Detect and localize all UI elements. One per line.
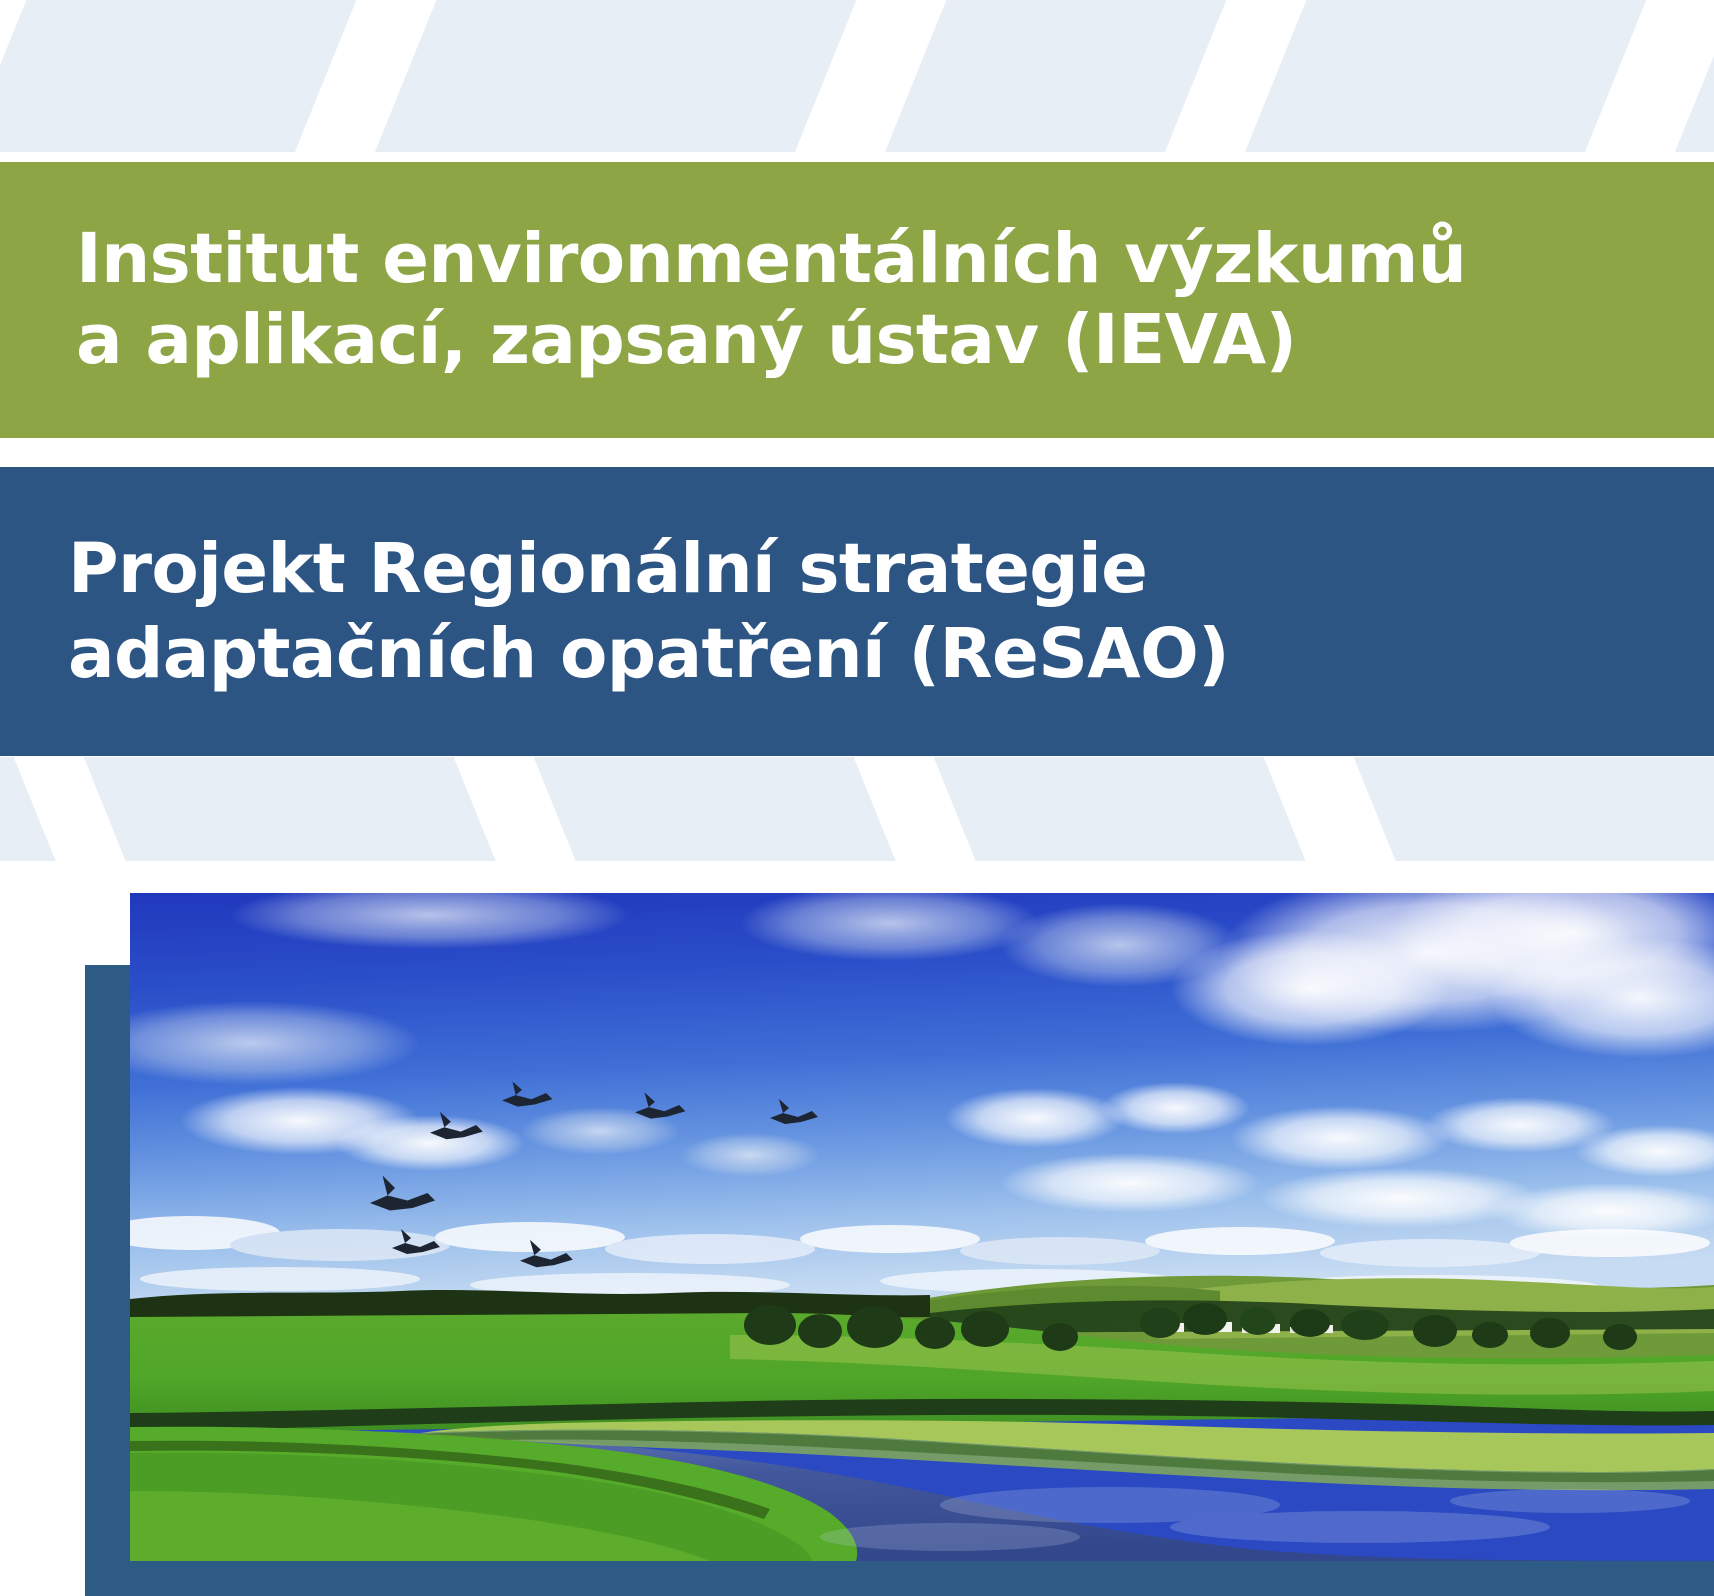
- project-title-band: Projekt Regionální strategie adaptačních…: [0, 467, 1714, 756]
- decorative-stripe: [0, 0, 373, 152]
- organization-title-band: Institut environmentálních výzkumů a apl…: [0, 162, 1714, 438]
- decorative-stripe: [347, 0, 872, 152]
- decorative-stripe: [917, 757, 1352, 861]
- decorative-stripe-band-middle: [0, 757, 1714, 861]
- decorative-stripe: [1217, 0, 1662, 152]
- landscape-photo: [130, 893, 1714, 1561]
- decorative-stripe: [517, 757, 942, 861]
- decorative-stripe: [0, 757, 103, 861]
- decorative-stripe: [857, 0, 1242, 152]
- decorative-stripe: [1337, 757, 1714, 861]
- landscape-photo-svg: [130, 893, 1714, 1561]
- decorative-stripe: [1647, 0, 1714, 152]
- project-title: Projekt Regionální strategie adaptačních…: [0, 527, 1249, 695]
- organization-title: Institut environmentálních výzkumů a apl…: [0, 219, 1486, 382]
- decorative-stripe: [67, 757, 542, 861]
- decorative-stripe-band-top: [0, 0, 1714, 152]
